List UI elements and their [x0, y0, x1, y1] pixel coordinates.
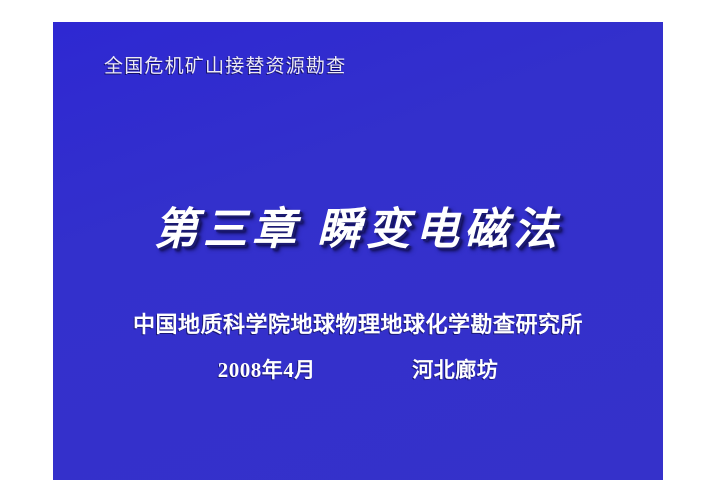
slide-canvas: 全国危机矿山接替资源勘查 第三章 瞬变电磁法 中国地质科学院地球物理地球化学勘查…	[53, 22, 663, 480]
date-place-row: 2008年4月 河北廊坊	[53, 354, 663, 386]
institute-name: 中国地质科学院地球物理地球化学勘查研究所	[53, 308, 663, 342]
presentation-location: 河北廊坊	[412, 358, 498, 382]
page-title: 第三章 瞬变电磁法	[154, 200, 562, 260]
slide-footer-block: 中国地质科学院地球物理地球化学勘查研究所 2008年4月 河北廊坊	[53, 308, 663, 386]
slide-root: 全国危机矿山接替资源勘查 第三章 瞬变电磁法 中国地质科学院地球物理地球化学勘查…	[0, 0, 713, 504]
slide-header-kicker: 全国危机矿山接替资源勘查	[104, 54, 346, 80]
slide-title-container: 第三章 瞬变电磁法	[53, 200, 663, 260]
presentation-date: 2008年4月	[218, 358, 316, 382]
